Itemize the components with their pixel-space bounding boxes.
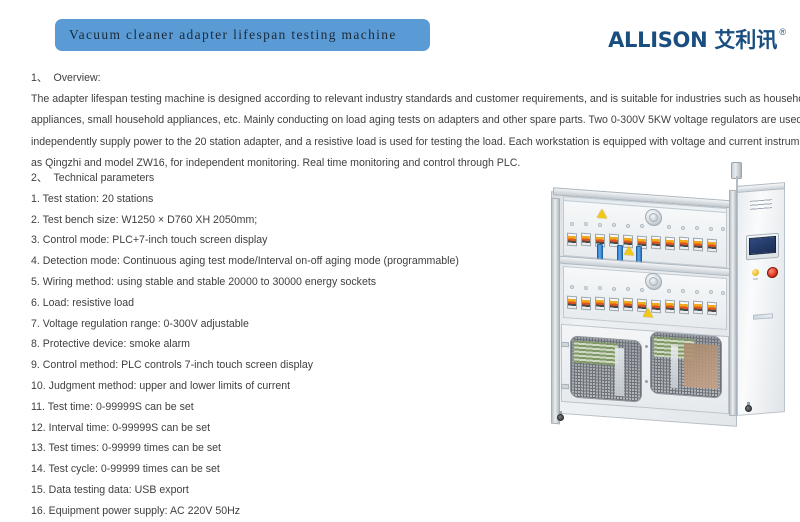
registered-trademark-icon: ® xyxy=(779,27,786,37)
cabinet-door-hinge xyxy=(561,342,569,348)
spec-item: 3. Control mode: PLC+7-inch touch screen… xyxy=(31,230,459,251)
station-indicator-dot xyxy=(584,286,588,290)
station-meter xyxy=(679,301,689,315)
station-meter xyxy=(609,298,619,312)
station-meter xyxy=(707,239,717,253)
station-indicator-dot xyxy=(598,286,602,290)
technical-parameters-heading-number: 2、 xyxy=(31,172,48,184)
caster-wheel xyxy=(745,405,752,412)
station-meter xyxy=(665,237,675,251)
high-voltage-warning-icon xyxy=(597,209,607,219)
spec-item: 15. Data testing data: USB export xyxy=(31,480,459,501)
machine-photo xyxy=(545,162,795,450)
power-indicator-lamp-label xyxy=(753,278,758,280)
spec-item: 2. Test bench size: W1250 × D760 XH 2050… xyxy=(31,210,459,231)
station-indicator-dot xyxy=(709,227,713,231)
station-meter xyxy=(693,301,703,315)
station-indicator-dot xyxy=(721,227,725,231)
station-indicator-dot xyxy=(667,289,671,293)
station-indicator-dot xyxy=(667,225,671,229)
internal-support-bar xyxy=(615,348,624,397)
station-indicator-dot xyxy=(612,287,616,291)
brand-name-cjk: 艾利讯 xyxy=(714,30,777,51)
cabinet-door-latch[interactable] xyxy=(645,380,648,383)
voltage-regulator-knob-center[interactable] xyxy=(649,277,658,287)
station-meter xyxy=(581,297,591,311)
7-inch-touch-screen[interactable] xyxy=(749,236,776,255)
spec-item: 13. Test times: 0-99999 times can be set xyxy=(31,438,459,459)
technical-parameters-heading: 2、Technical parameters xyxy=(31,168,459,189)
station-meter xyxy=(623,298,633,312)
overview-paragraph-line: The adapter lifespan testing machine is … xyxy=(31,89,787,110)
cabinet-door-latch[interactable] xyxy=(645,345,648,348)
overview-heading-label: Overview: xyxy=(54,72,101,84)
station-indicator-dot xyxy=(709,290,713,294)
control-tower-brand-label xyxy=(750,199,772,210)
spec-item: 5. Wiring method: using stable and stabl… xyxy=(31,272,459,293)
cabinet-door-hinge xyxy=(561,384,569,390)
spec-item: 1. Test station: 20 stations xyxy=(31,189,459,210)
station-indicator-dot xyxy=(721,291,725,295)
station-indicator-dot xyxy=(640,224,644,228)
control-tower-cabinet xyxy=(737,186,785,416)
station-meter xyxy=(651,236,661,250)
station-indicator-dot xyxy=(695,290,699,294)
station-indicator-dot xyxy=(681,226,685,230)
overview-heading-number: 1、 xyxy=(31,72,48,84)
spec-item: 10. Judgment method: upper and lower lim… xyxy=(31,376,459,397)
station-meter xyxy=(567,296,577,310)
spec-item: 8. Protective device: smoke alarm xyxy=(31,334,459,355)
overview-section: 1、Overview: The adapter lifespan testing… xyxy=(31,68,787,174)
overview-paragraph-line: independently supply power to the 20 sta… xyxy=(31,132,787,153)
spec-item: 4. Detection mode: Continuous aging test… xyxy=(31,251,459,272)
station-meter xyxy=(567,233,577,247)
station-indicator-dot xyxy=(626,224,630,228)
station-meter xyxy=(665,300,675,314)
bench-frame-post-left xyxy=(551,198,560,425)
station-meter xyxy=(581,233,591,247)
station-indicator-dot xyxy=(570,285,574,289)
station-meter xyxy=(595,297,605,311)
station-indicator-dot xyxy=(570,222,574,226)
station-indicator-dot xyxy=(681,289,685,293)
spec-item: 12. Interval time: 0-99999S can be set xyxy=(31,418,459,439)
overview-paragraph-line: appliances, small household appliances, … xyxy=(31,110,787,131)
spec-item: 11. Test time: 0-99999S can be set xyxy=(31,397,459,418)
station-meter xyxy=(693,238,703,252)
station-indicator-dot xyxy=(612,223,616,227)
station-indicator-dot xyxy=(584,222,588,226)
spec-item: 7. Voltage regulation range: 0-300V adju… xyxy=(31,314,459,335)
station-indicator-dot xyxy=(640,288,644,292)
high-voltage-warning-icon xyxy=(624,246,634,256)
bench-frame-post-middle xyxy=(729,190,737,417)
voltage-regulator-knob-center[interactable] xyxy=(649,213,658,223)
station-meter xyxy=(707,302,717,316)
brand-logo: ALLISON 艾利讯 ® xyxy=(608,30,786,51)
brand-name-latin: ALLISON xyxy=(608,30,707,51)
technical-parameters-section: 2、Technical parameters 1. Test station: … xyxy=(31,168,459,522)
page-title-banner: Vacuum cleaner adapter lifespan testing … xyxy=(55,19,430,51)
station-indicator-dot xyxy=(598,223,602,227)
internal-resistor-bank xyxy=(574,340,618,365)
internal-support-bar xyxy=(671,346,678,389)
high-voltage-warning-icon xyxy=(643,308,653,318)
station-indicator-dot xyxy=(626,287,630,291)
spec-item: 14. Test cycle: 0-99999 times can be set xyxy=(31,459,459,480)
station-indicator-dot xyxy=(695,226,699,230)
spec-item: 9. Control method: PLC controls 7-inch t… xyxy=(31,355,459,376)
caster-wheel xyxy=(557,414,564,421)
page-title: Vacuum cleaner adapter lifespan testing … xyxy=(55,27,397,43)
station-meter xyxy=(679,237,689,251)
overview-heading: 1、Overview: xyxy=(31,68,787,89)
internal-panel xyxy=(684,343,718,389)
technical-parameters-heading-label: Technical parameters xyxy=(54,172,155,184)
spec-item: 16. Equipment power supply: AC 220V 50Hz xyxy=(31,501,459,522)
spec-item: 6. Load: resistive load xyxy=(31,293,459,314)
